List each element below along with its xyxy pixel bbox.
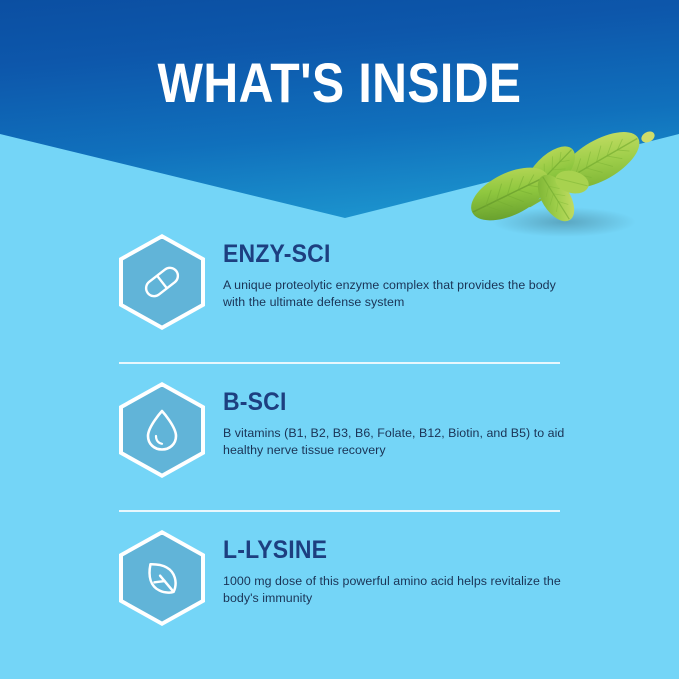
ingredient-text-block: L-LYSINE 1000 mg dose of this powerful a…: [205, 526, 679, 607]
ingredient-name: B-SCI: [223, 388, 643, 416]
ingredient-icon-badge: [119, 382, 205, 478]
ingredient-text-block: B-SCI B vitamins (B1, B2, B3, B6, Folate…: [205, 378, 679, 459]
header-banner: WHAT'S INSIDE: [0, 0, 679, 222]
ingredient-icon-badge: [119, 530, 205, 626]
ingredient-item-enzy-sci: ENZY-SCI A unique proteolytic enzyme com…: [0, 230, 679, 348]
ingredient-list: ENZY-SCI A unique proteolytic enzyme com…: [0, 230, 679, 644]
ingredient-description: 1000 mg dose of this powerful amino acid…: [223, 573, 573, 607]
ingredient-description: A unique proteolytic enzyme complex that…: [223, 277, 573, 311]
capsule-pill-icon: [119, 234, 205, 330]
ingredient-name: L-LYSINE: [223, 536, 643, 564]
ingredient-description: B vitamins (B1, B2, B3, B6, Folate, B12,…: [223, 425, 573, 459]
ingredient-text-block: ENZY-SCI A unique proteolytic enzyme com…: [205, 230, 679, 311]
ingredient-name: ENZY-SCI: [223, 240, 643, 268]
water-droplet-icon: [119, 382, 205, 478]
ingredient-icon-badge: [119, 234, 205, 330]
ingredient-item-l-lysine: L-LYSINE 1000 mg dose of this powerful a…: [0, 526, 679, 644]
ingredient-infographic: WHAT'S INSIDE: [0, 0, 679, 679]
leaf-icon: [119, 530, 205, 626]
page-title: WHAT'S INSIDE: [48, 52, 632, 114]
ingredient-item-b-sci: B-SCI B vitamins (B1, B2, B3, B6, Folate…: [0, 378, 679, 496]
